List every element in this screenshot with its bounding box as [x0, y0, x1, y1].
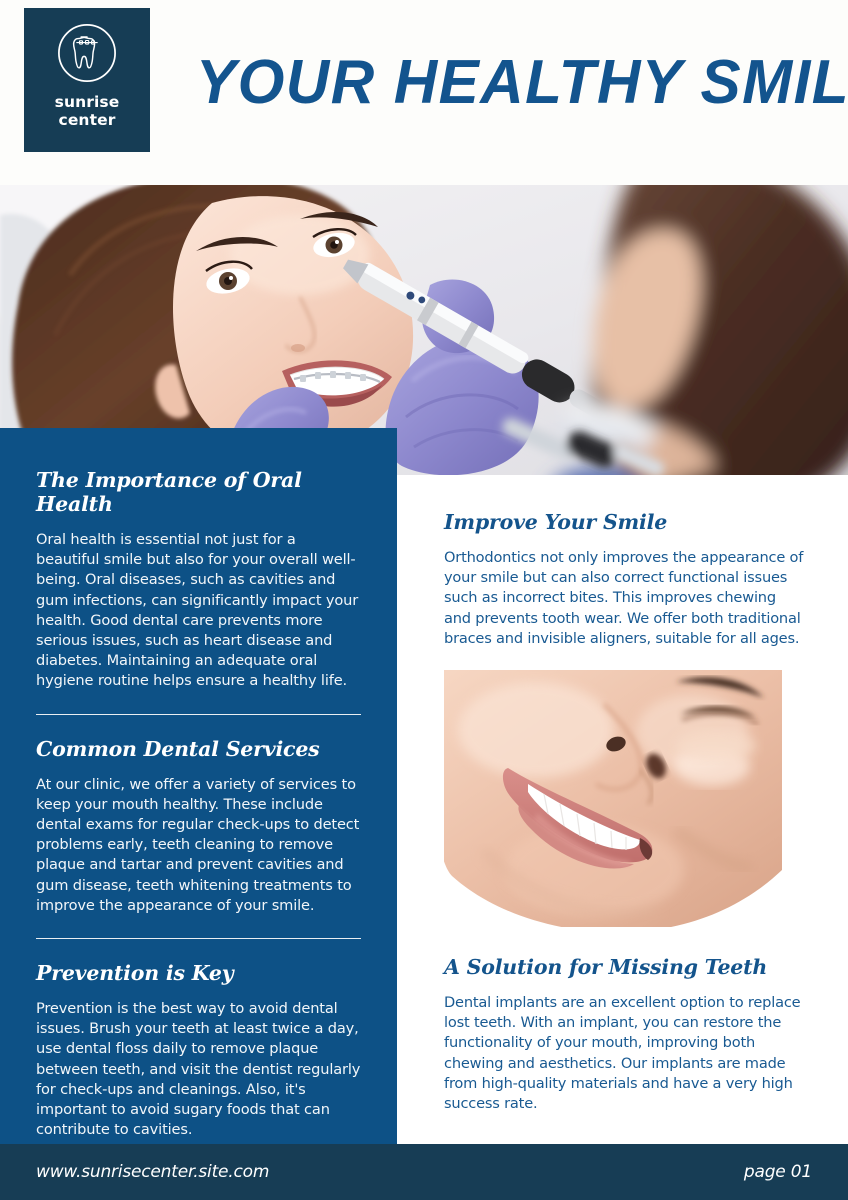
section-body-improve-your-smile: Orthodontics not only improves the appea… [444, 548, 804, 649]
logo-line-2: center [55, 111, 120, 129]
section-body-solution-for-missing-teeth: Dental implants are an excellent option … [444, 993, 804, 1114]
section-heading-improve-your-smile: Improve Your Smile [444, 510, 804, 534]
spacer [444, 927, 804, 955]
section-heading-common-dental-services: Common Dental Services [36, 737, 361, 761]
section-heading-importance-of-oral-health: The Importance of Oral Health [36, 468, 361, 516]
tooth-in-circle-icon [56, 22, 118, 84]
section-body-common-dental-services: At our clinic, we offer a variety of ser… [36, 775, 361, 916]
page-header: sunrise center YOUR HEALTHY SMILE [0, 0, 848, 185]
footer-website[interactable]: www.sunrisecenter.site.com [36, 1162, 269, 1182]
section-heading-solution-for-missing-teeth: A Solution for Missing Teeth [444, 955, 804, 979]
section-divider-2 [36, 938, 361, 939]
left-content-panel: The Importance of Oral Health Oral healt… [0, 428, 397, 1144]
smile-photo-illustration [444, 670, 782, 927]
section-body-prevention-is-key: Prevention is the best way to avoid dent… [36, 999, 361, 1140]
section-body-importance-of-oral-health: Oral health is essential not just for a … [36, 530, 361, 692]
footer-page-number: page 01 [744, 1162, 812, 1182]
logo-block: sunrise center [24, 8, 150, 152]
logo-line-1: sunrise [55, 93, 120, 111]
smile-photo [444, 670, 782, 927]
section-divider-1 [36, 714, 361, 715]
newsletter-page: sunrise center YOUR HEALTHY SMILE [0, 0, 848, 1200]
logo-wordmark: sunrise center [55, 93, 120, 129]
section-heading-prevention-is-key: Prevention is Key [36, 961, 361, 985]
right-content-column: Improve Your Smile Orthodontics not only… [397, 475, 848, 1144]
page-footer: www.sunrisecenter.site.com page 01 [0, 1144, 848, 1200]
page-title: YOUR HEALTHY SMILE [196, 50, 817, 116]
